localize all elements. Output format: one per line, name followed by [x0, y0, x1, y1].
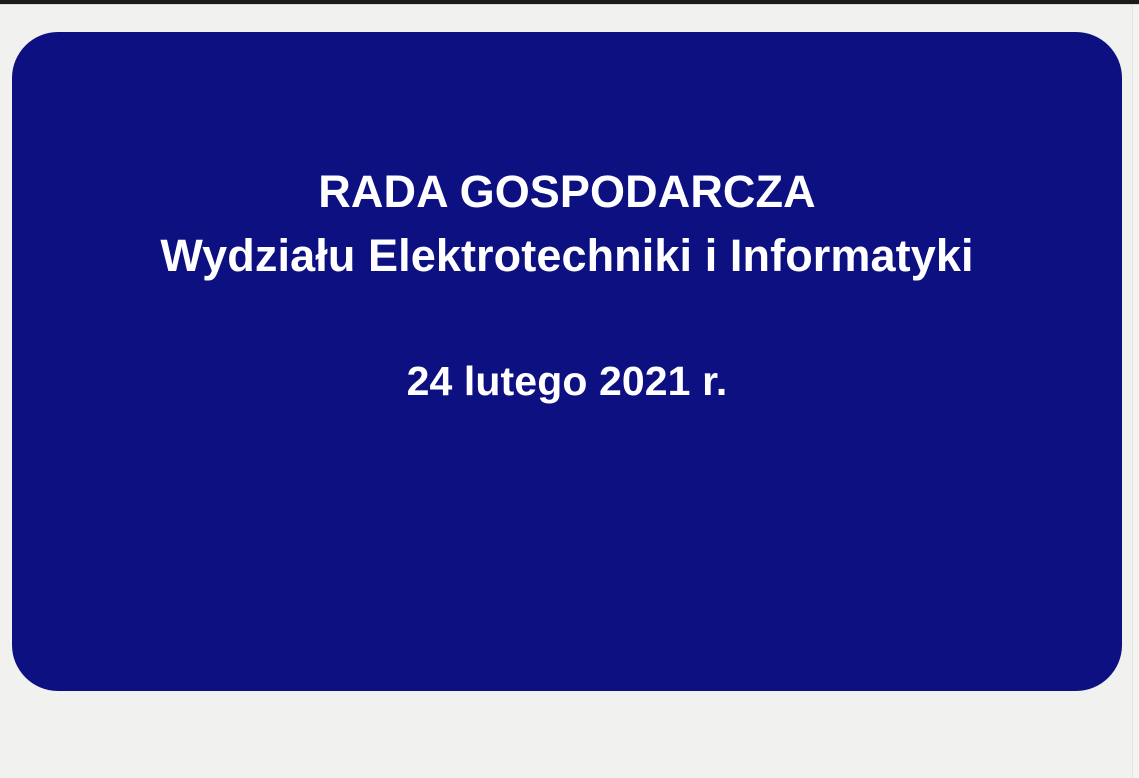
slide-text-block: RADA GOSPODARCZA Wydziału Elektrotechnik…	[12, 32, 1122, 410]
slide-card: RADA GOSPODARCZA Wydziału Elektrotechnik…	[12, 32, 1122, 691]
slide-subtitle: Wydziału Elektrotechniki i Informatyki	[12, 224, 1122, 288]
right-gutter	[1133, 5, 1139, 778]
slide-blank-line	[12, 288, 1122, 352]
top-strip-hairline	[0, 4, 1139, 5]
page-canvas: RADA GOSPODARCZA Wydziału Elektrotechnik…	[0, 5, 1139, 778]
right-edge-rule	[1132, 5, 1133, 778]
slide-title: RADA GOSPODARCZA	[12, 160, 1122, 224]
slide-date: 24 lutego 2021 r.	[12, 352, 1122, 410]
